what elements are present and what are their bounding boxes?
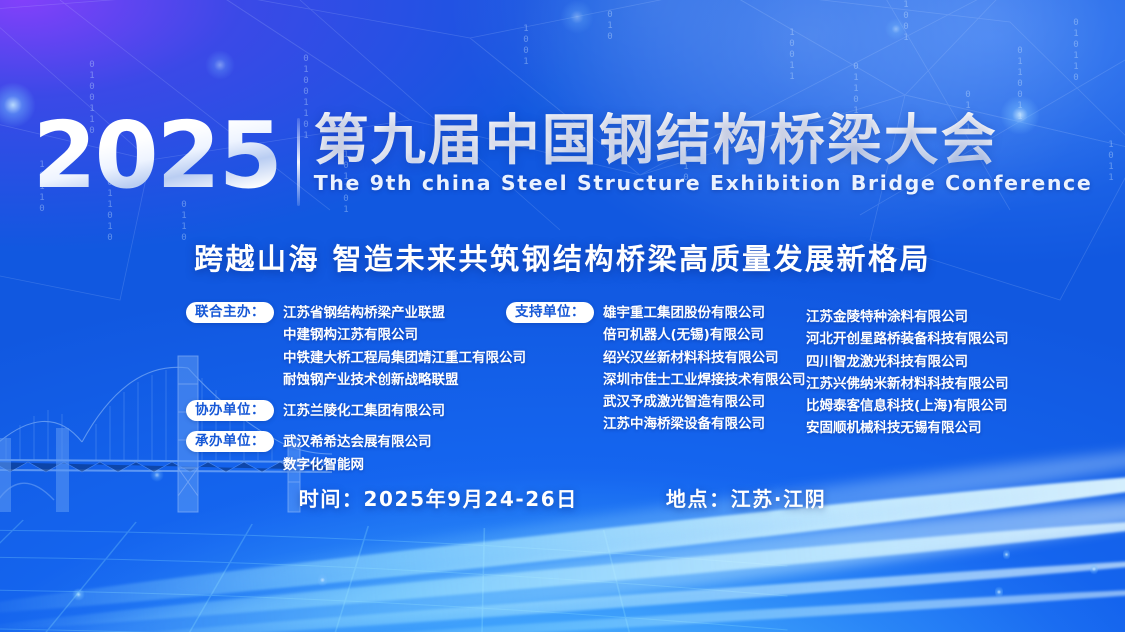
binary-digits-decoration: 1001	[900, 0, 911, 44]
supporters-group: 支持单位： 雄宇重工集团股份有限公司 倍可机器人(无锡)有限公司 绍兴汉丝新材料…	[506, 302, 806, 436]
glow-dot	[995, 585, 1003, 599]
conference-slogan: 跨越山海 智造未来共筑钢结构桥梁高质量发展新格局	[0, 236, 1125, 278]
conference-title-english: The 9th china Steel Structure Exhibition…	[314, 171, 1093, 195]
credits-section: 联合主办： 江苏省钢结构桥梁产业联盟 中建钢构江苏有限公司 中铁建大桥工程局集团…	[186, 302, 1066, 485]
event-details-footer: 时间：2025年9月24-26日 地点：江苏·江阴	[0, 483, 1125, 512]
glow-dot	[318, 572, 327, 588]
binary-digits-decoration: 1001	[520, 24, 531, 68]
binary-digits-decoration: 010110	[1070, 18, 1081, 84]
year-2025: 2025	[33, 112, 297, 200]
org-item: 耐蚀钢产业技术创新战略联盟	[283, 369, 526, 391]
org-item: 安固顺机械科技无锡有限公司	[806, 417, 1036, 439]
org-item: 河北开创星路桥装备科技有限公司	[806, 328, 1036, 350]
org-item: 数字化智能网	[283, 454, 432, 476]
co-host-group: 联合主办： 江苏省钢结构桥梁产业联盟 中建钢构江苏有限公司 中铁建大桥工程局集团…	[186, 302, 506, 391]
glow-dot	[1003, 548, 1010, 561]
glow-dot	[560, 0, 594, 34]
org-item: 江苏兰陵化工集团有限公司	[283, 400, 445, 422]
org-item: 江苏省钢结构桥梁产业联盟	[283, 302, 526, 324]
event-location: 地点：江苏·江阴	[666, 483, 826, 512]
binary-digits-decoration: 10011	[786, 28, 797, 83]
co-organizer-orgs: 江苏兰陵化工集团有限公司	[283, 400, 445, 422]
org-item: 江苏兴佛纳米新材料科技有限公司	[806, 373, 1036, 395]
undertaker-orgs: 武汉希希达会展有限公司 数字化智能网	[283, 431, 432, 476]
supporters-label: 支持单位：	[506, 302, 594, 323]
perspective-grid-decoration	[0, 492, 788, 632]
org-item: 四川智龙激光科技有限公司	[806, 351, 1036, 373]
org-item: 雄宇重工集团股份有限公司	[603, 302, 806, 324]
co-organizer-group: 协办单位： 江苏兰陵化工集团有限公司	[186, 400, 506, 422]
co-host-orgs: 江苏省钢结构桥梁产业联盟 中建钢构江苏有限公司 中铁建大桥工程局集团靖江重工有限…	[283, 302, 526, 391]
conference-banner: 10110 0100110 011010 0110 01001101 10110…	[0, 0, 1125, 632]
credits-column-supporters-2: 江苏金陵特种涂料有限公司 河北开创星路桥装备科技有限公司 四川智龙激光科技有限公…	[806, 302, 1036, 440]
binary-digits-decoration: 010	[604, 10, 615, 43]
credits-column-left: 联合主办： 江苏省钢结构桥梁产业联盟 中建钢构江苏有限公司 中铁建大桥工程局集团…	[186, 302, 506, 485]
co-organizer-label: 协办单位：	[186, 400, 274, 421]
glow-dot	[205, 50, 235, 80]
credits-column-supporters-1: 支持单位： 雄宇重工集团股份有限公司 倍可机器人(无锡)有限公司 绍兴汉丝新材料…	[506, 302, 806, 445]
org-item: 江苏金陵特种涂料有限公司	[806, 306, 1036, 328]
org-item: 比姆泰客信息科技(上海)有限公司	[806, 395, 1036, 417]
supporters-orgs-col1: 雄宇重工集团股份有限公司 倍可机器人(无锡)有限公司 绍兴汉丝新材料科技有限公司…	[603, 302, 806, 436]
undertaker-label: 承办单位：	[186, 431, 274, 452]
org-item: 中建钢构江苏有限公司	[283, 324, 526, 346]
glow-dot	[1090, 562, 1098, 576]
org-item: 江苏中海桥梁设备有限公司	[603, 413, 806, 435]
org-item: 武汉希希达会展有限公司	[283, 431, 432, 453]
org-item: 倍可机器人(无锡)有限公司	[603, 324, 806, 346]
event-date: 时间：2025年9月24-26日	[299, 483, 578, 512]
undertaker-group: 承办单位： 武汉希希达会展有限公司 数字化智能网	[186, 431, 506, 476]
org-item: 绍兴汉丝新材料科技有限公司	[603, 347, 806, 369]
co-host-label: 联合主办：	[186, 302, 274, 323]
org-item: 中铁建大桥工程局集团靖江重工有限公司	[283, 347, 526, 369]
title-divider	[297, 118, 300, 206]
org-item: 深圳市佳士工业焊接技术有限公司	[603, 369, 806, 391]
conference-title-chinese: 第九届中国钢结构桥梁大会	[314, 112, 1093, 169]
org-item: 武汉予成激光智造有限公司	[603, 391, 806, 413]
headline-block: 2025 第九届中国钢结构桥梁大会 The 9th china Steel St…	[0, 112, 1125, 206]
